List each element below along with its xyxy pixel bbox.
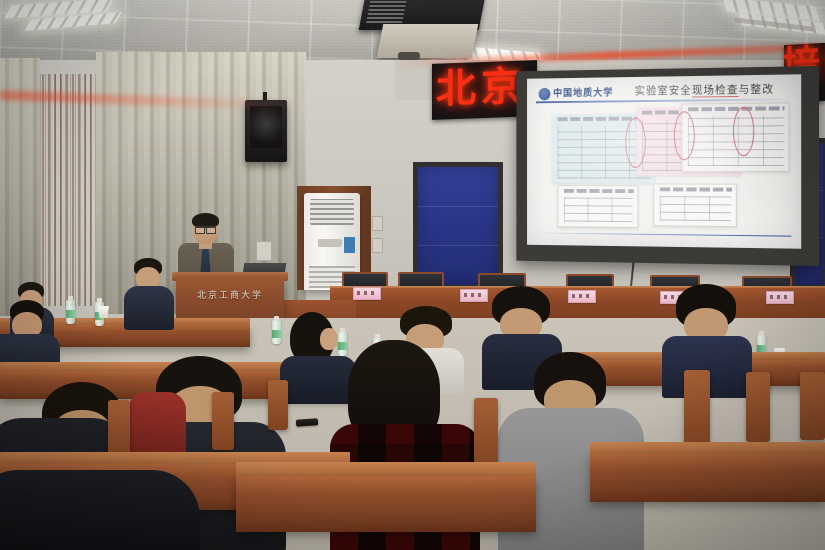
wall-panel-blue [413,162,503,290]
slide-annotation-ellipse [625,118,645,168]
podium-institution-text: 北京工商大学 [176,288,284,301]
projector-vent [366,1,406,23]
slide-title: 实验室安全现场检查与整改 [635,81,775,99]
slide-annotation-ellipse [674,111,695,160]
projector-housing [377,24,479,58]
water-bottle [272,320,281,344]
wall-plate [256,241,272,261]
form-caption [564,189,634,193]
slide-logo-cn: 中国地质大学 [553,88,613,99]
paper-cup [98,306,109,318]
form-caption [660,187,732,191]
name-placard [353,287,381,300]
slide-divider-bottom [536,233,791,237]
form-caption [688,106,784,111]
slide-form-lower-right [653,183,737,227]
ac-label-sticker [344,237,355,253]
slide-annotation-ellipse [733,107,754,156]
slide-title-highlight: 现场检查 [692,83,739,97]
person-torso [280,356,356,404]
university-seal-icon [539,88,551,101]
ac-brand-logo [318,239,342,247]
name-placard [568,290,596,303]
water-bottle [66,300,75,324]
form-table-rows [564,198,633,223]
conference-room-photo: 北京 培训 中国地质大学 CHINA UNIVERSITY OF GEOSCIE… [0,0,825,550]
wall-plate [372,216,383,231]
slide-form-lower-left [558,185,639,228]
wall-plate [372,238,383,253]
presenter-glasses-icon [195,226,216,232]
form-table-rows [660,196,731,221]
auditorium-chair [800,372,825,440]
person-head [320,328,338,350]
name-placard [766,291,794,304]
projection-screen: 中国地质大学 CHINA UNIVERSITY OF GEOSCIENCES 实… [527,74,801,248]
slide-title-part2: 与整改 [739,83,775,96]
person-torso [0,470,200,550]
desk-row [590,454,825,502]
slide-title-part1: 实验室安全 [635,84,692,97]
auditorium-chair [474,398,498,470]
auditorium-chair [268,380,288,430]
name-placard [460,289,488,302]
projection-screen-frame: 中国地质大学 CHINA UNIVERSITY OF GEOSCIENCES 实… [516,66,819,266]
led-banner-left-text: 北京 [436,67,526,110]
water-bottle [338,332,347,356]
auditorium-chair [212,392,234,450]
person-torso [124,286,174,330]
desk-row [236,476,536,532]
auditorium-chair [746,372,770,442]
ac-vent [310,199,354,225]
